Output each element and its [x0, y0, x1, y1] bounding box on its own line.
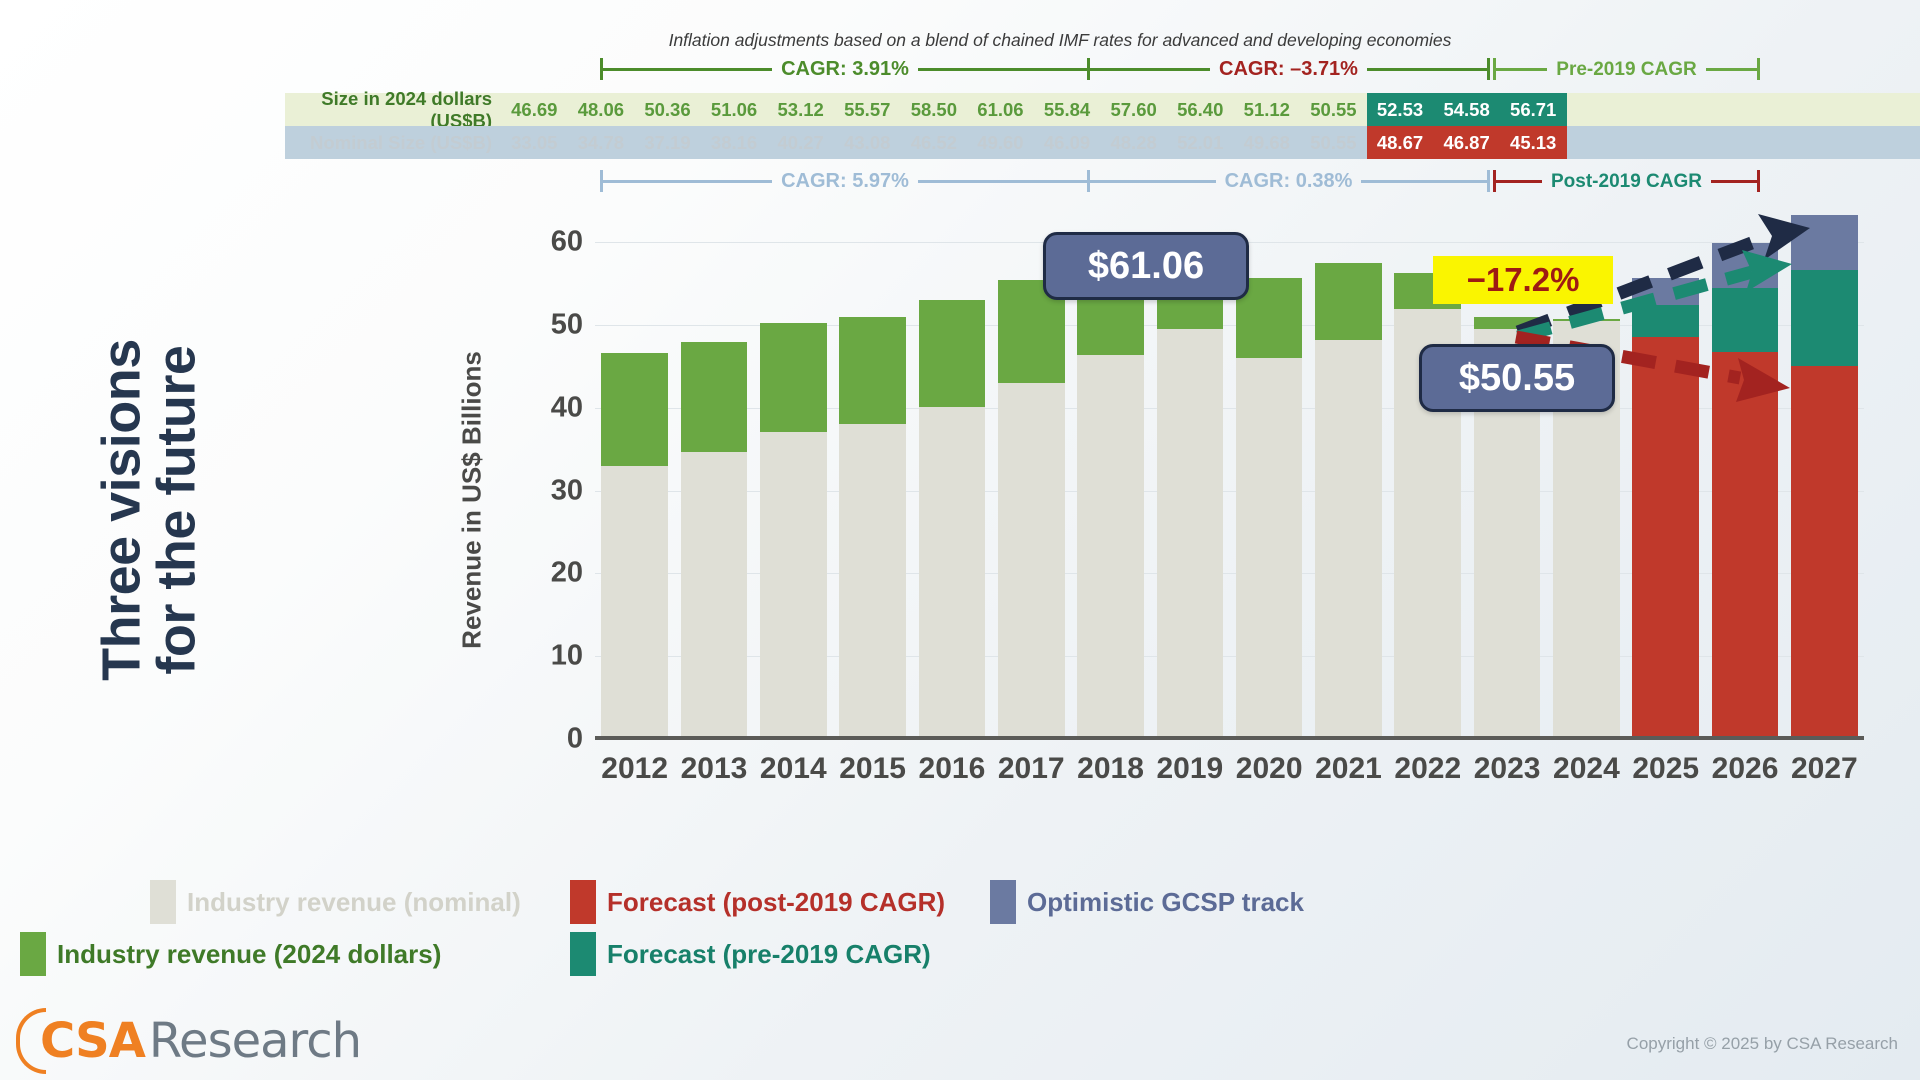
bar-segment-real	[1553, 319, 1620, 322]
bar-segment-nominal	[1157, 329, 1224, 740]
table-cell: 49.60	[967, 126, 1034, 159]
bar-segment-real	[601, 353, 668, 466]
logo-text-research: Research	[149, 1013, 361, 1069]
bar-segment-real	[1474, 317, 1541, 329]
legend-item-real-dollars[interactable]: Industry revenue (2024 dollars)	[20, 932, 440, 976]
bar	[1315, 210, 1382, 740]
bar-group[interactable]: 2013	[674, 210, 753, 740]
cagr-bracket-nominal-2: CAGR: 0.38%	[1090, 164, 1490, 198]
y-tick-label: 10	[551, 640, 583, 673]
x-tick-label: 2022	[1388, 752, 1467, 786]
cagr-bracket-real-2: CAGR: –3.71%	[1090, 52, 1490, 86]
table-cell: 46.52	[901, 126, 968, 159]
table-cell: 50.55	[1300, 126, 1367, 159]
callout-decline-highlight: −17.2%	[1433, 256, 1613, 304]
table-cell: 50.55	[1300, 93, 1367, 126]
bar-segment-nominal	[601, 466, 668, 740]
cagr-bracket-label: Post-2019 CAGR	[1542, 172, 1711, 191]
table-cell-forecast: 48.67	[1367, 126, 1434, 159]
table-cell: 38.16	[701, 126, 768, 159]
bar-segment-forecast-post2019	[1712, 352, 1779, 740]
x-tick-label: 2017	[992, 752, 1071, 786]
legend-label: Forecast (post-2019 CAGR)	[607, 887, 945, 918]
legend-swatch-icon	[570, 880, 596, 924]
table-cell: 56.40	[1167, 93, 1234, 126]
slide-root: Three visions for the future Inflation a…	[0, 0, 1920, 1080]
bar-segment-real	[839, 317, 906, 424]
x-tick-label: 2027	[1785, 752, 1864, 786]
page-title-line2: for the future	[150, 339, 205, 681]
table-cell: 49.68	[1234, 126, 1301, 159]
legend-row-1: Industry revenue (nominal) Forecast (pos…	[150, 880, 1650, 932]
table-cell-forecast: 45.13	[1500, 126, 1567, 159]
methodology-note: Inflation adjustments based on a blend o…	[560, 30, 1560, 51]
bar-segment-forecast-post2019	[1632, 337, 1699, 740]
table-cell: 53.12	[767, 93, 834, 126]
bracket-line	[1090, 180, 1216, 183]
x-tick-label: 2013	[674, 752, 753, 786]
table-cell-forecast: 54.58	[1433, 93, 1500, 126]
table-cell: 33.05	[501, 126, 568, 159]
bar-segment-forecast-pre2019	[1632, 305, 1699, 337]
bar-group[interactable]: 2025	[1626, 210, 1705, 740]
bracket-line	[1706, 68, 1757, 71]
logo-text-csa: CSA	[40, 1013, 145, 1069]
bracket-line	[1496, 180, 1542, 183]
bar	[760, 210, 827, 740]
table-cell-forecast: 52.53	[1367, 93, 1434, 126]
bar-segment-optimistic-gcsp	[1791, 215, 1858, 270]
table-cell: 52.01	[1167, 126, 1234, 159]
bar-segment-nominal	[1077, 355, 1144, 740]
x-tick-label: 2020	[1230, 752, 1309, 786]
bracket-line	[1361, 180, 1487, 183]
table-cell: 55.57	[834, 93, 901, 126]
table-cell: 46.09	[1034, 126, 1101, 159]
copyright-notice: Copyright © 2025 by CSA Research	[1627, 1034, 1898, 1054]
table-cell: 43.08	[834, 126, 901, 159]
csa-research-logo[interactable]: CSA Research	[16, 1012, 361, 1070]
cagr-bracket-real-3: Pre-2019 CAGR	[1493, 52, 1760, 86]
legend-row-2: Industry revenue (2024 dollars) Forecast…	[150, 932, 1650, 984]
x-tick-label: 2016	[912, 752, 991, 786]
bar-group[interactable]: 2015	[833, 210, 912, 740]
legend-swatch-icon	[150, 880, 176, 924]
cagr-bracket-label: CAGR: 3.91%	[772, 59, 918, 79]
bracket-line	[1090, 68, 1210, 71]
bracket-tick-right-icon	[1487, 170, 1490, 192]
y-tick-label: 30	[551, 474, 583, 507]
legend-swatch-icon	[570, 932, 596, 976]
x-tick-label: 2024	[1547, 752, 1626, 786]
bar	[919, 210, 986, 740]
cagr-bracket-nominal-3: Post-2019 CAGR	[1493, 164, 1760, 198]
x-tick-label: 2023	[1467, 752, 1546, 786]
bar-group[interactable]: 2026	[1705, 210, 1784, 740]
x-tick-label: 2019	[1150, 752, 1229, 786]
table-cell: 40.27	[767, 126, 834, 159]
table-cell: 46.69	[501, 93, 568, 126]
x-tick-label: 2025	[1626, 752, 1705, 786]
bar-segment-real	[760, 323, 827, 432]
bar-segment-nominal	[681, 452, 748, 740]
cagr-bracket-label: CAGR: 0.38%	[1216, 171, 1362, 191]
y-tick-label: 60	[551, 226, 583, 259]
table-cell-forecast: 46.87	[1433, 126, 1500, 159]
bracket-tick-right-icon	[1757, 170, 1760, 192]
cagr-bracket-label: Pre-2019 CAGR	[1547, 60, 1705, 79]
bar-segment-optimistic-gcsp	[1712, 243, 1779, 288]
bar	[601, 210, 668, 740]
cagr-bracket-row-bottom: CAGR: 5.97% CAGR: 0.38% Post-2019 CAGR	[600, 164, 1920, 198]
legend-swatch-icon	[20, 932, 46, 976]
table-cell: 57.60	[1100, 93, 1167, 126]
y-tick-label: 40	[551, 391, 583, 424]
table-cell: 50.36	[634, 93, 701, 126]
legend-item-nominal[interactable]: Industry revenue (nominal)	[150, 880, 570, 924]
callout-latest-value: $50.55	[1419, 344, 1615, 412]
table-row-label-nominal: Nominal Size (US$B)	[285, 126, 501, 159]
bar	[839, 210, 906, 740]
bar-segment-nominal	[839, 424, 906, 740]
bracket-line	[918, 68, 1087, 71]
table-cell: 55.84	[1034, 93, 1101, 126]
table-row-real-dollars: Size in 2024 dollars (US$B) 46.69 48.06 …	[285, 93, 1920, 126]
legend-label: Optimistic GCSP track	[1027, 887, 1304, 918]
legend-item-forecast-pre2019[interactable]: Forecast (pre-2019 CAGR)	[570, 932, 990, 976]
bar-segment-nominal	[998, 383, 1065, 740]
bar-group[interactable]: 2016	[912, 210, 991, 740]
bar	[681, 210, 748, 740]
bar-segment-real	[681, 342, 748, 452]
table-cell: 51.12	[1234, 93, 1301, 126]
page-title: Three visions for the future	[40, 230, 260, 790]
legend-label: Forecast (pre-2019 CAGR)	[607, 939, 931, 970]
table-cell: 58.50	[901, 93, 968, 126]
bar-segment-forecast-pre2019	[1791, 270, 1858, 366]
bracket-line	[1711, 180, 1757, 183]
bar	[1632, 210, 1699, 740]
bracket-tick-right-icon	[1757, 58, 1760, 80]
bar-group[interactable]: 2012	[595, 210, 674, 740]
table-row-label-real: Size in 2024 dollars (US$B)	[285, 93, 501, 126]
bar	[1791, 210, 1858, 740]
bar-group[interactable]: 2014	[754, 210, 833, 740]
legend-label: Industry revenue (2024 dollars)	[57, 939, 441, 970]
chart-legend: Industry revenue (nominal) Forecast (pos…	[150, 880, 1650, 984]
table-cell: 61.06	[967, 93, 1034, 126]
cagr-bracket-label: CAGR: –3.71%	[1210, 59, 1367, 79]
legend-item-forecast-post2019[interactable]: Forecast (post-2019 CAGR)	[570, 880, 990, 924]
table-cell: 51.06	[701, 93, 768, 126]
table-cell: 37.19	[634, 126, 701, 159]
cagr-bracket-nominal-1: CAGR: 5.97%	[600, 164, 1090, 198]
table-row-nominal: Nominal Size (US$B) 33.05 34.78 37.19 38…	[285, 126, 1920, 159]
legend-swatch-icon	[990, 880, 1016, 924]
page-title-line1: Three visions	[95, 339, 150, 681]
y-tick-label: 0	[567, 723, 583, 756]
bracket-line	[1367, 68, 1487, 71]
cagr-bracket-real-1: CAGR: 3.91%	[600, 52, 1090, 86]
bracket-line	[1496, 68, 1547, 71]
bracket-line	[603, 180, 772, 183]
bracket-line	[603, 68, 772, 71]
legend-item-optimistic-gcsp[interactable]: Optimistic GCSP track	[990, 880, 1304, 924]
bracket-tick-right-icon	[1487, 58, 1490, 80]
data-table: Size in 2024 dollars (US$B) 46.69 48.06 …	[285, 93, 1920, 159]
table-cell: 48.28	[1100, 126, 1167, 159]
x-tick-label: 2015	[833, 752, 912, 786]
bar-segment-nominal	[1236, 358, 1303, 740]
bar-segment-real	[1315, 263, 1382, 340]
x-tick-label: 2018	[1071, 752, 1150, 786]
bar-segment-nominal	[919, 407, 986, 740]
y-axis-title: Revenue in US$ Billions	[457, 351, 488, 649]
cagr-bracket-label: CAGR: 5.97%	[772, 171, 918, 191]
bar-segment-optimistic-gcsp	[1632, 278, 1699, 305]
legend-label: Industry revenue (nominal)	[187, 887, 521, 918]
bar-segment-forecast-pre2019	[1712, 288, 1779, 352]
bar-segment-forecast-post2019	[1791, 366, 1858, 740]
bar-segment-real	[919, 300, 986, 406]
callout-peak-value: $61.06	[1043, 232, 1249, 300]
table-cell: 34.78	[568, 126, 635, 159]
y-tick-label: 50	[551, 308, 583, 341]
bar-segment-nominal	[1315, 340, 1382, 740]
y-tick-label: 20	[551, 557, 583, 590]
table-cell-forecast: 56.71	[1500, 93, 1567, 126]
x-tick-label: 2014	[754, 752, 833, 786]
bar	[1712, 210, 1779, 740]
cagr-bracket-row-top: CAGR: 3.91% CAGR: –3.71% Pre-2019 CAGR	[600, 52, 1920, 86]
x-tick-label: 2026	[1705, 752, 1784, 786]
x-tick-label: 2021	[1309, 752, 1388, 786]
bar-group[interactable]: 2027	[1785, 210, 1864, 740]
x-axis-line	[595, 736, 1864, 740]
bracket-line	[918, 180, 1087, 183]
bar-group[interactable]: 2021	[1309, 210, 1388, 740]
table-cell: 48.06	[568, 93, 635, 126]
bar-segment-nominal	[760, 432, 827, 740]
x-tick-label: 2012	[595, 752, 674, 786]
